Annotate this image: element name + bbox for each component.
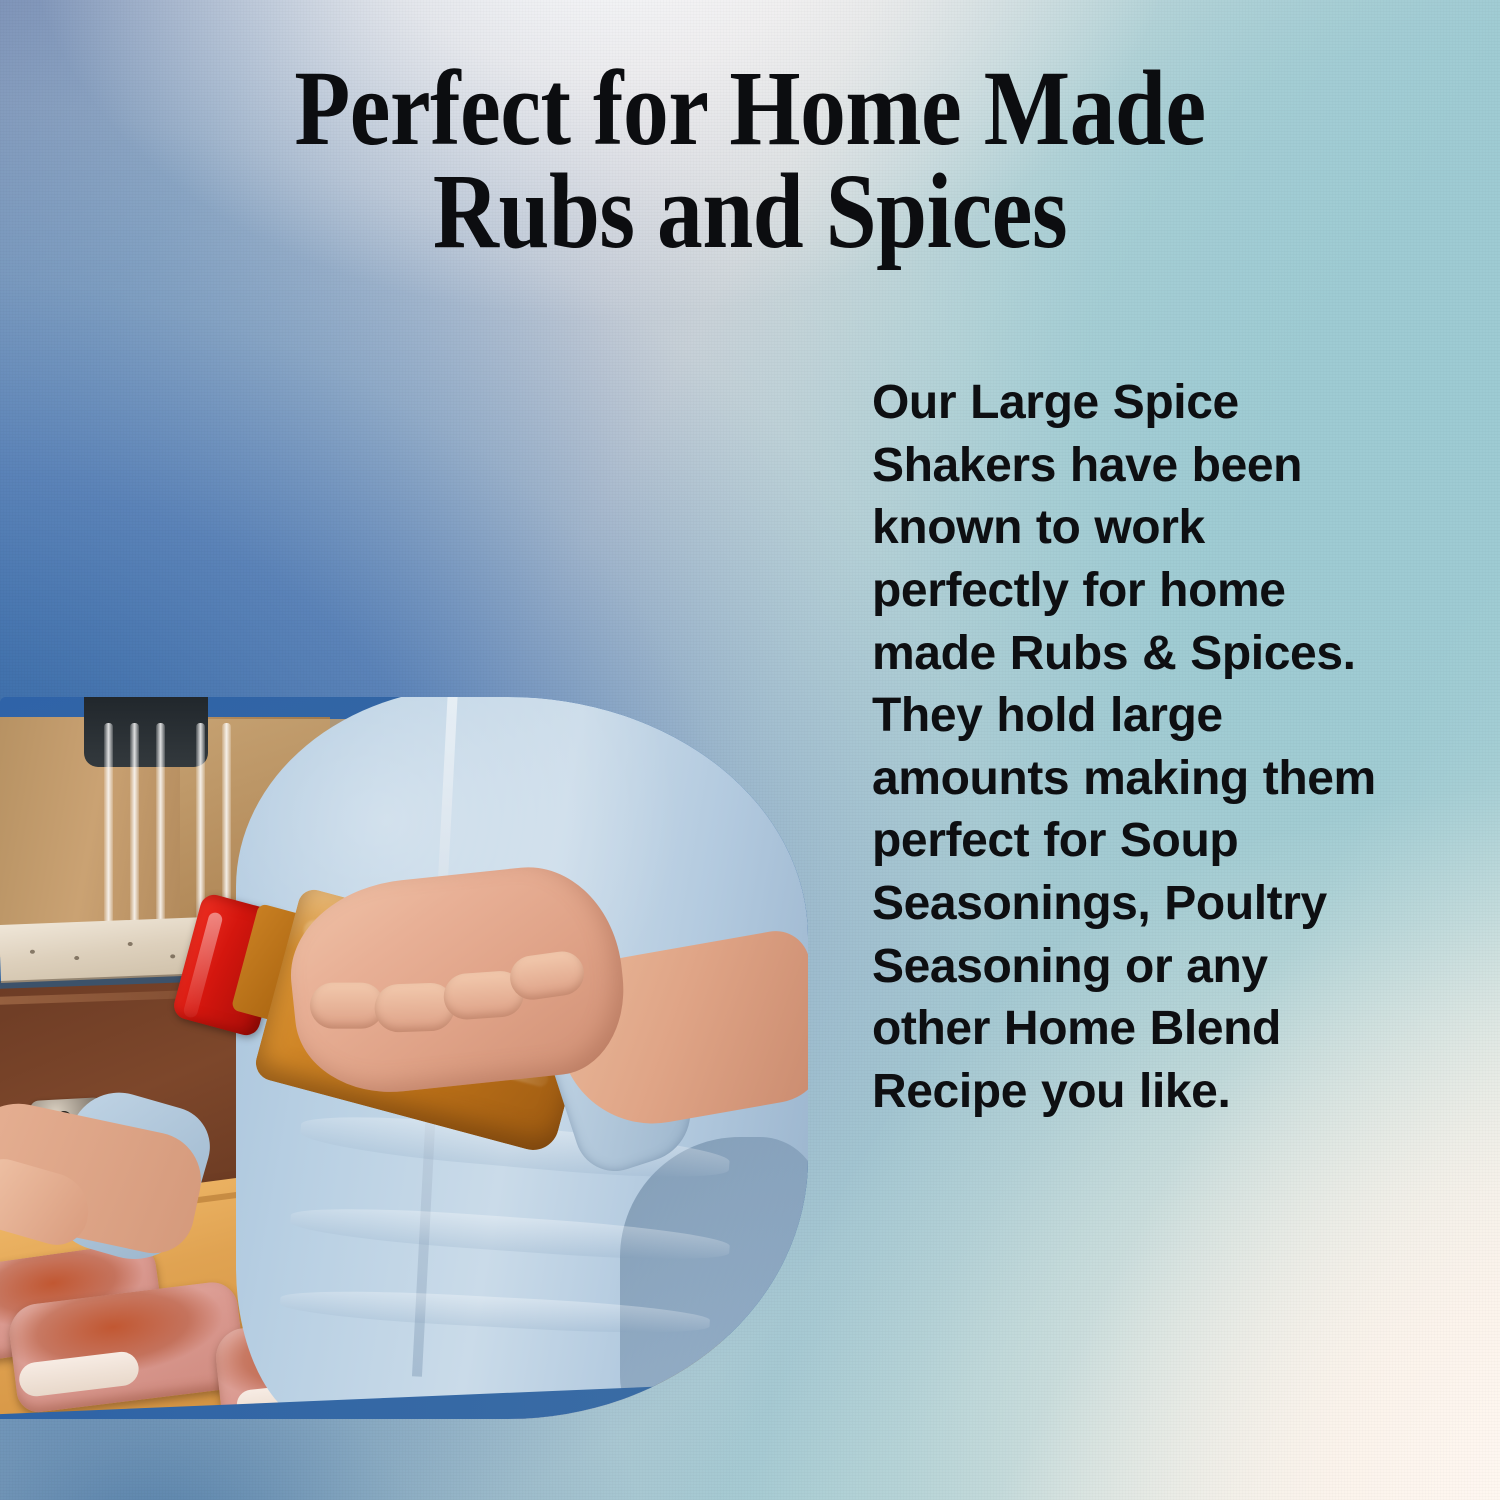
shirt-shadow <box>620 1137 808 1419</box>
product-photo <box>0 697 808 1419</box>
promo-graphic: Perfect for Home Made Rubs and Spices <box>0 0 1500 1500</box>
title-line-2: Rubs and Spices <box>109 161 1392 264</box>
description-text: Our Large Spice Shakers have been known … <box>872 372 1392 1124</box>
kitchen-scene-illustration <box>0 697 808 1419</box>
dark-appliance <box>84 697 208 767</box>
glass-tube <box>104 723 113 923</box>
glass-tube <box>222 723 231 923</box>
title-line-1: Perfect for Home Made <box>109 58 1392 161</box>
glass-tube <box>156 723 165 923</box>
glass-tube <box>196 723 205 923</box>
glass-tube <box>130 723 139 923</box>
page-title: Perfect for Home Made Rubs and Spices <box>0 58 1500 263</box>
